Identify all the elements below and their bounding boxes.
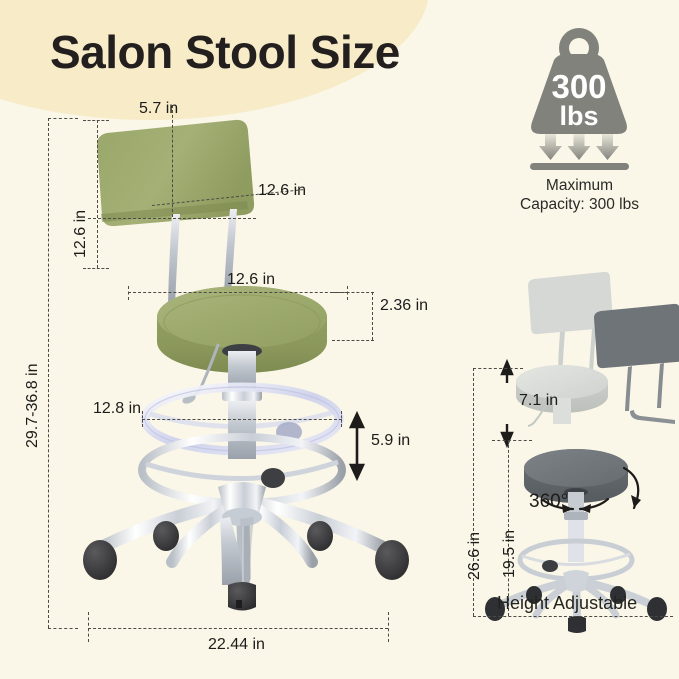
adjustable-panel-caption: Height Adjustable bbox=[497, 593, 637, 614]
guide-base-tick-left bbox=[88, 612, 89, 642]
base-spokes bbox=[100, 500, 384, 578]
guide-seat-diameter bbox=[128, 292, 348, 293]
cylinder-shaft bbox=[228, 351, 256, 389]
guide-footrest-diameter bbox=[142, 419, 342, 420]
load-arrows-icon bbox=[539, 134, 619, 160]
label-adjust-range: 7.1 in bbox=[519, 392, 558, 410]
label-backrest-width: 12.6 in bbox=[258, 182, 306, 200]
guide-seat-thickness-bottom bbox=[332, 340, 374, 341]
label-overall-height: 29.7-36.8 in bbox=[24, 363, 42, 448]
guide-backrest-height-left bbox=[97, 120, 98, 268]
cylinder-lower bbox=[228, 401, 256, 459]
guide-backrest-bottom bbox=[83, 268, 109, 269]
footrest-ring-lowered bbox=[142, 437, 342, 503]
caster-back-left bbox=[153, 521, 179, 551]
guide-min-height-top bbox=[492, 440, 532, 441]
caster-left bbox=[83, 540, 117, 580]
guide-footrest-tick-right bbox=[341, 411, 342, 427]
guide-top-tick bbox=[48, 118, 78, 119]
guide-bottom-tick bbox=[48, 628, 78, 629]
guide-backrest-width-line bbox=[88, 218, 256, 219]
guide-floor-line bbox=[473, 616, 673, 617]
guide-max-height-top bbox=[473, 368, 523, 369]
caster-front bbox=[228, 582, 256, 611]
label-footrest-travel: 5.9 in bbox=[371, 432, 410, 450]
casters bbox=[83, 521, 409, 611]
capacity-caption-line2: Capacity: 300 lbs bbox=[492, 195, 667, 214]
ring-clamp bbox=[261, 468, 285, 488]
base-hub bbox=[218, 482, 266, 521]
capacity-badge: 300 lbs Maximum Capacity: 300 lbs bbox=[492, 22, 667, 214]
weight-icon: 300 lbs bbox=[492, 22, 667, 172]
backrest-rod-brace bbox=[176, 299, 250, 320]
guide-seat-diameter-tick-right bbox=[347, 286, 348, 300]
guide-base-tick-right bbox=[388, 612, 389, 642]
infographic-canvas: Salon Stool Size 300 lbs bbox=[0, 0, 679, 679]
base-stem-front bbox=[220, 517, 242, 585]
lowered-backrest bbox=[594, 304, 679, 368]
height-lever bbox=[190, 345, 218, 397]
label-min-seat-height: 19.5 in bbox=[501, 530, 519, 578]
caster-back-right bbox=[307, 521, 333, 551]
raised-backrest bbox=[528, 272, 613, 334]
guide-seat-thickness-v bbox=[372, 292, 373, 340]
ring-clamp-raised bbox=[276, 422, 302, 442]
capacity-caption-line1: Maximum bbox=[492, 176, 667, 195]
label-seat-thickness: 2.36 in bbox=[380, 297, 428, 315]
guide-backrest-top bbox=[83, 120, 109, 121]
page-title: Salon Stool Size bbox=[50, 25, 400, 79]
adjust-range-arrow bbox=[502, 362, 512, 445]
adjust-footrest-ring bbox=[520, 541, 632, 579]
weight-value-text: 300 bbox=[551, 68, 606, 105]
rotation-arrowheads-icon bbox=[562, 495, 641, 513]
ground-bar-icon bbox=[530, 163, 629, 170]
seat-stitch bbox=[164, 295, 320, 349]
guide-seat-diameter-tick-left bbox=[128, 286, 129, 300]
guide-base-width bbox=[88, 628, 388, 629]
label-backrest-height: 12.6 in bbox=[72, 210, 90, 258]
label-backrest-depth: 5.7 in bbox=[139, 100, 178, 118]
capacity-caption: Maximum Capacity: 300 lbs bbox=[492, 176, 667, 214]
lowered-seat bbox=[524, 449, 628, 487]
guide-backrest-depth-v1 bbox=[172, 105, 173, 217]
seat-top bbox=[157, 286, 327, 348]
cylinder-joint bbox=[222, 389, 262, 401]
label-base-width: 22.44 in bbox=[208, 636, 265, 654]
lever-knob bbox=[181, 392, 197, 405]
seat-side bbox=[157, 286, 327, 373]
backrest-cushion bbox=[97, 120, 254, 226]
stool-lowered-dark bbox=[485, 304, 679, 633]
label-seat-diameter: 12.6 in bbox=[227, 271, 275, 289]
label-footrest-diameter: 12.8 in bbox=[93, 400, 141, 418]
guide-seat-thickness-top bbox=[332, 292, 374, 293]
label-max-seat-height: 26.6 in bbox=[466, 532, 484, 580]
guide-overall-height-left bbox=[48, 118, 49, 628]
cylinder-collar bbox=[222, 344, 262, 358]
footrest-travel-arrow bbox=[351, 414, 363, 478]
guide-footrest-tick-left bbox=[142, 411, 143, 427]
label-rotation: 360° bbox=[529, 491, 568, 513]
weight-unit-text: lbs bbox=[559, 101, 598, 131]
caster-right bbox=[375, 540, 409, 580]
guide-min-height-v bbox=[508, 440, 509, 616]
